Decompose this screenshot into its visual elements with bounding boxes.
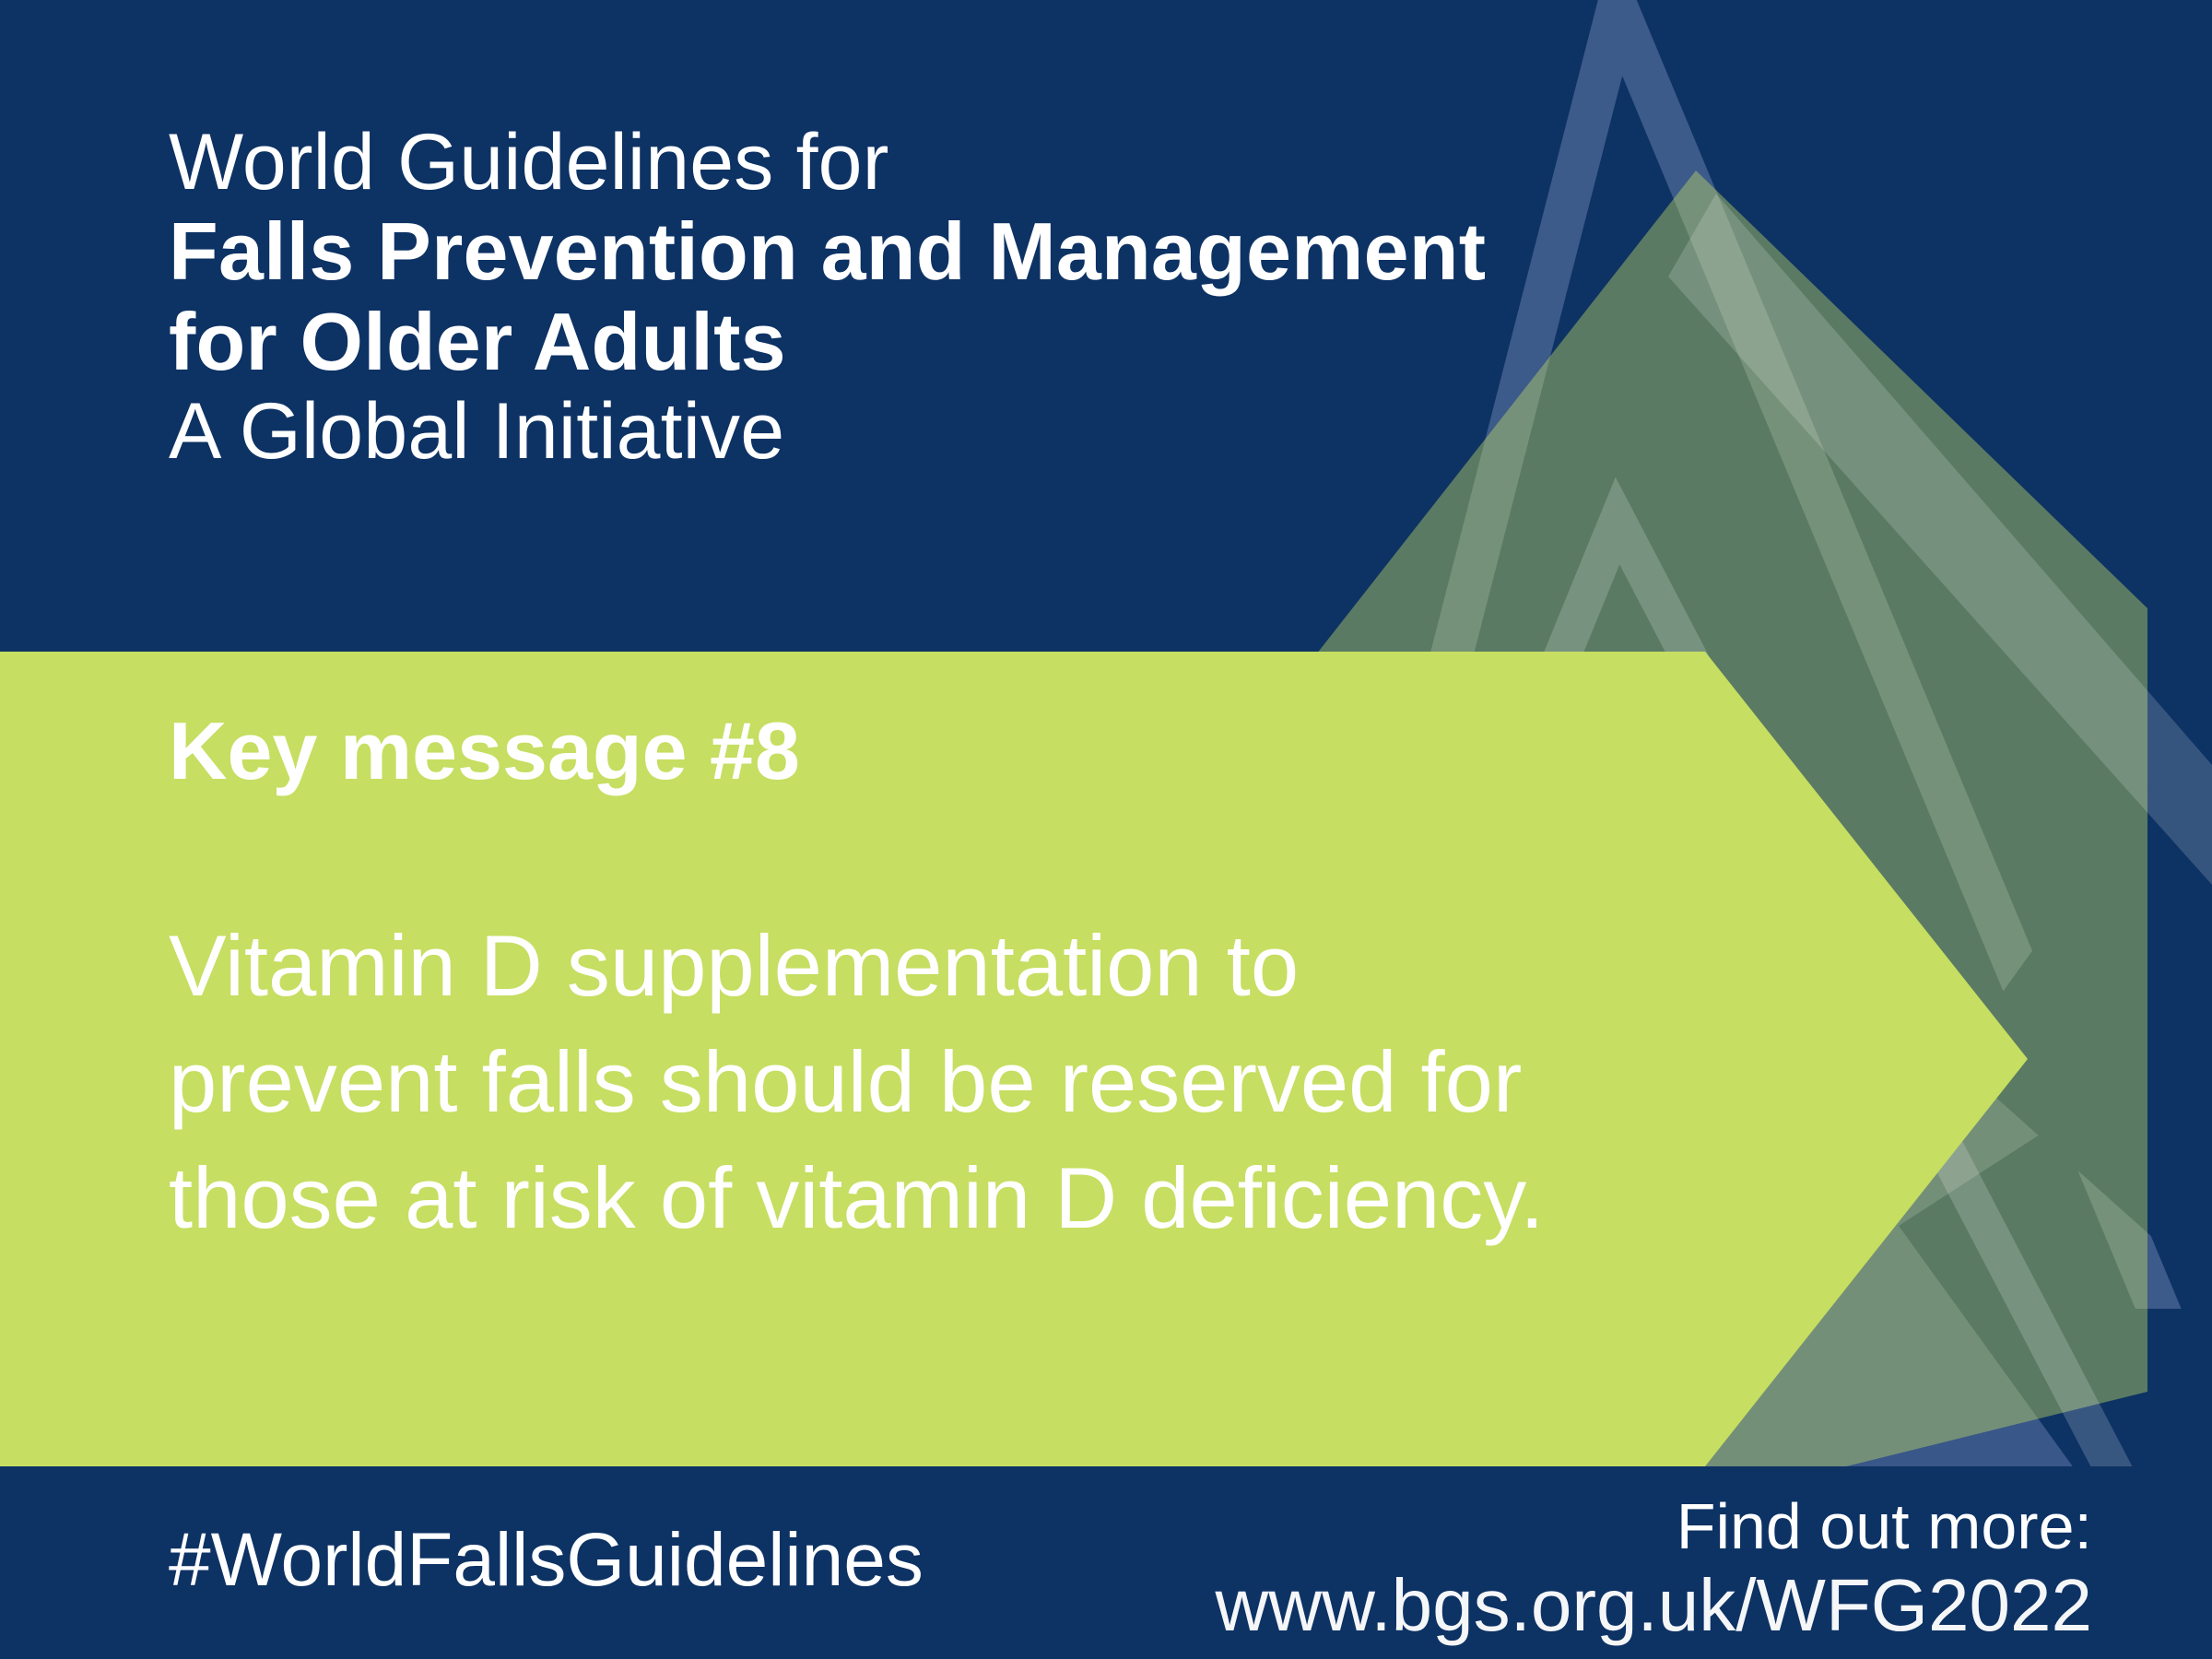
page-title: World Guidelines for Falls Prevention an… — [169, 118, 1735, 476]
key-message-body-line-1: Vitamin D supplementation to — [169, 908, 1828, 1024]
key-message-body-line-2: prevent falls should be reserved for — [169, 1024, 1828, 1140]
key-message-label: Key message #8 — [169, 705, 800, 797]
title-line-2: Falls Prevention and Management — [169, 206, 1735, 297]
hashtag-label: #WorldFallsGuidelines — [169, 1510, 924, 1611]
title-line-3: for Older Adults — [169, 297, 1735, 387]
key-message-body: Vitamin D supplementation to prevent fal… — [169, 908, 1828, 1256]
poster-canvas: World Guidelines for Falls Prevention an… — [0, 0, 2212, 1659]
find-out-more-label: Find out more: — [1216, 1489, 2092, 1563]
website-url-link[interactable]: www.bgs.org.uk/WFG2022 — [1216, 1563, 2092, 1648]
title-line-1: World Guidelines for — [169, 118, 1735, 206]
key-message-body-line-3: those at risk of vitamin D deficiency. — [169, 1140, 1828, 1256]
title-line-4: A Global Initiative — [169, 387, 1735, 476]
find-out-more-block: Find out more: www.bgs.org.uk/WFG2022 — [1216, 1489, 2092, 1648]
